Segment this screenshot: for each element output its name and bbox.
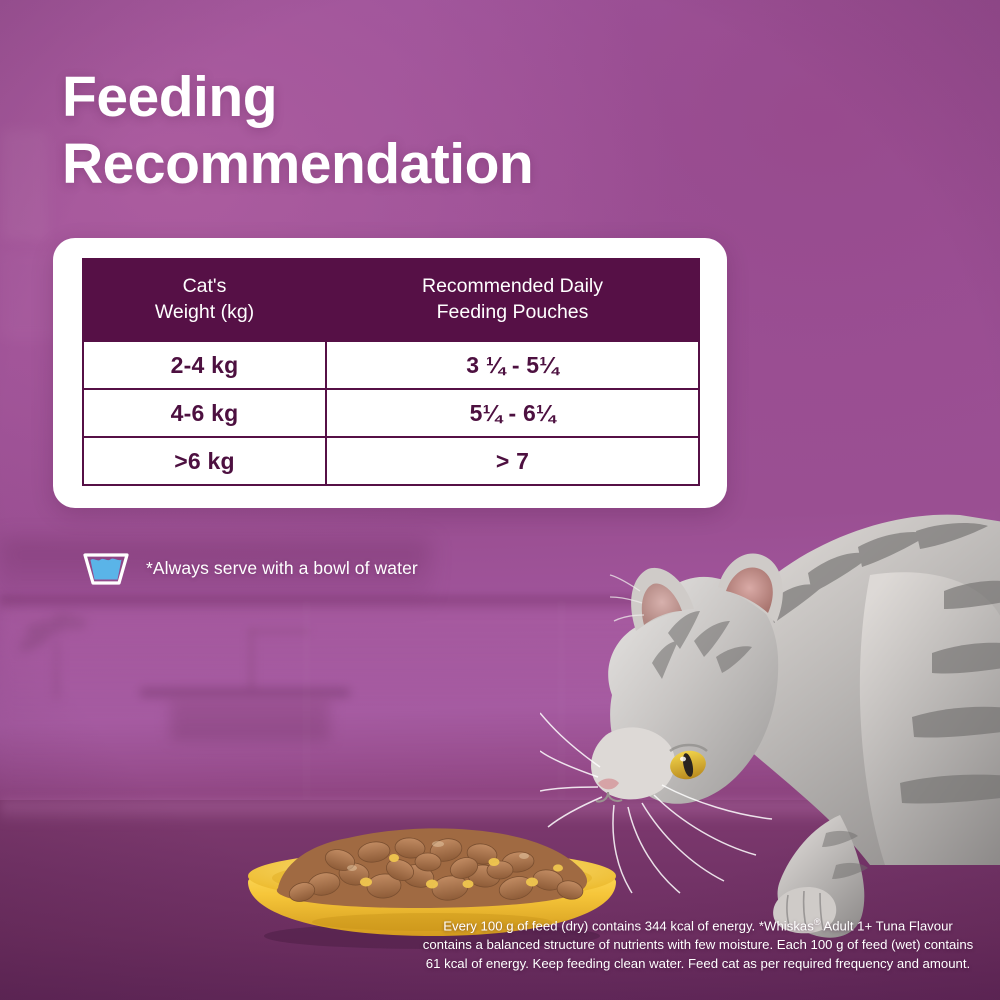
feeding-recommendation-poster: Feeding Recommendation Cat's Weight (kg)… [0, 0, 1000, 1000]
feeding-table-card: Cat's Weight (kg) Recommended Daily Feed… [53, 238, 727, 508]
column-header-pouches: Recommended Daily Feeding Pouches [326, 259, 699, 341]
cell-weight: 2-4 kg [83, 341, 326, 389]
feeding-table: Cat's Weight (kg) Recommended Daily Feed… [82, 258, 700, 486]
footer-legal-text: Every 100 g of feed (dry) contains 344 k… [420, 916, 976, 974]
water-note: *Always serve with a bowl of water [78, 548, 418, 588]
cell-weight: 4-6 kg [83, 389, 326, 437]
table-row: >6 kg > 7 [83, 437, 699, 485]
table-header-row: Cat's Weight (kg) Recommended Daily Feed… [83, 259, 699, 341]
water-note-text: *Always serve with a bowl of water [146, 558, 418, 579]
table-row: 2-4 kg 3 ¼ - 5¼ [83, 341, 699, 389]
cell-pouches: 3 ¼ - 5¼ [326, 341, 699, 389]
water-bowl-icon [78, 548, 134, 588]
cell-pouches: > 7 [326, 437, 699, 485]
cell-pouches: 5¼ - 6¼ [326, 389, 699, 437]
table-row: 4-6 kg 5¼ - 6¼ [83, 389, 699, 437]
footer-text-part1: Every 100 g of feed (dry) contains 344 k… [443, 918, 814, 933]
page-title: Feeding Recommendation [62, 64, 702, 199]
cell-weight: >6 kg [83, 437, 326, 485]
column-header-weight: Cat's Weight (kg) [83, 259, 326, 341]
